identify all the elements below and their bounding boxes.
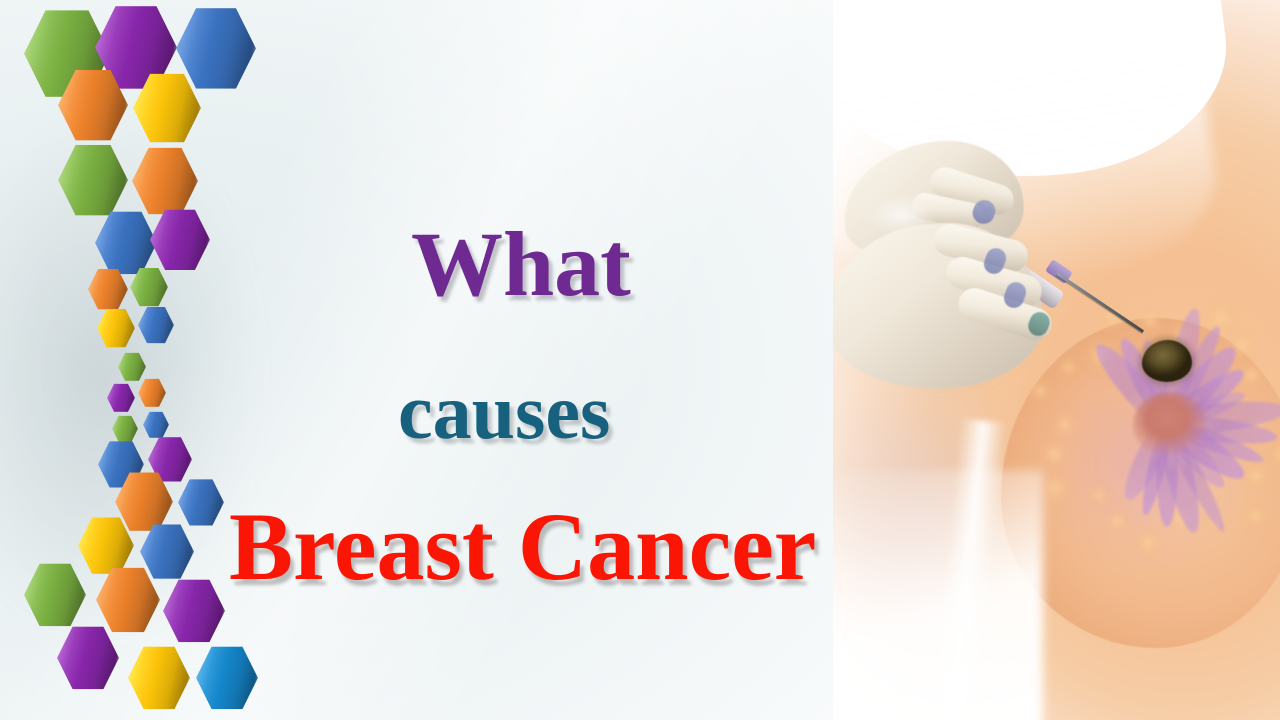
hexagon-rim [96, 566, 160, 634]
hexagon-rim [138, 378, 166, 408]
hexagon-rim [128, 645, 190, 711]
hexagon-blue [140, 523, 194, 580]
title-line-what: What [411, 218, 631, 310]
hexagon-rim [178, 478, 224, 527]
hexagon-rim [150, 208, 210, 272]
hexagon-rim [78, 516, 134, 575]
hexagon-yellow [128, 645, 190, 711]
hexagon-cyan [196, 645, 258, 711]
hexagon-rim [57, 625, 119, 691]
hexagon-blue [143, 411, 169, 439]
hexagon-green [112, 415, 138, 443]
hexagon-orange [88, 268, 128, 310]
hexagon-rim [138, 306, 174, 344]
lobule [1240, 500, 1271, 531]
lobule [1047, 407, 1082, 442]
hexagon-rim [112, 415, 138, 443]
hexagon-green [58, 143, 128, 217]
hexagon-orange [96, 566, 160, 634]
title-panel: What causes Breast Cancer [0, 0, 833, 720]
hexagon-blue [95, 210, 157, 276]
lobule [1085, 481, 1113, 509]
title-line-breast-cancer: Breast Cancer [229, 499, 816, 595]
hexagon-green [24, 562, 86, 628]
hexagon-rim [176, 6, 256, 91]
hexagon-purple [150, 208, 210, 272]
slide-canvas: What causes Breast Cancer [0, 0, 1280, 720]
hexagon-rim [118, 352, 146, 382]
hexagon-blue [138, 306, 174, 344]
hexagon-yellow [78, 516, 134, 575]
hexagon-rim [163, 578, 225, 644]
lobule [1101, 505, 1134, 538]
hexagon-orange [132, 146, 198, 216]
illustration-panel: Biopsy needle Breast lump Needle Breast … [833, 0, 1280, 720]
hexagon-yellow [97, 308, 135, 348]
hexagon-rim [132, 146, 198, 216]
hexagon-purple [107, 383, 135, 413]
hexagon-rim [97, 308, 135, 348]
hexagon-rim [107, 383, 135, 413]
hexagon-green [118, 352, 146, 382]
hexagon-rim [95, 210, 157, 276]
hexagon-orange [138, 378, 166, 408]
hexagon-rim [143, 411, 169, 439]
lobule [1134, 305, 1166, 337]
breast-lump-mass [1142, 340, 1192, 382]
hexagon-rim [140, 523, 194, 580]
areola-nipple [1133, 392, 1207, 458]
hexagon-rim [196, 645, 258, 711]
hexagon-purple [57, 625, 119, 691]
title-line-causes: causes [398, 373, 610, 451]
hexagon-rim [58, 143, 128, 217]
hexagon-blue [178, 478, 224, 527]
hexagon-purple [163, 578, 225, 644]
hexagon-rim [24, 562, 86, 628]
hexagon-rim [88, 268, 128, 310]
hexagon-blue [176, 6, 256, 91]
